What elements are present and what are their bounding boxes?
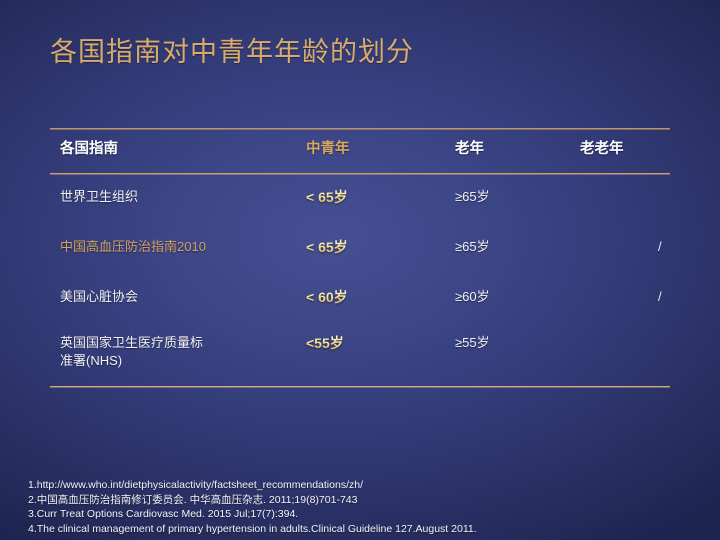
footnote-item: 3.Curr Treat Options Cardiovasc Med. 201… <box>28 507 698 522</box>
cell-elderly: ≥60岁 <box>455 288 575 306</box>
cell-very-elderly: / <box>580 238 670 256</box>
cell-very-elderly: / <box>580 288 670 306</box>
table-row: 英国国家卫生医疗质量标 准署(NHS) <55岁 ≥55岁 <box>50 324 670 386</box>
cell-middle-young: <55岁 <box>306 334 456 353</box>
cell-guideline: 中国高血压防治指南2010 <box>60 238 310 256</box>
table-bottom-rule <box>50 386 670 387</box>
guidelines-table: 各国指南 中青年 老年 老老年 世界卫生组织 < 65岁 ≥65岁 中国高血压防… <box>50 128 670 387</box>
column-header-elderly: 老年 <box>455 140 575 160</box>
cell-elderly: ≥55岁 <box>455 334 575 352</box>
footnote-item: 4.The clinical management of primary hyp… <box>28 522 698 537</box>
cell-middle-young: < 60岁 <box>306 288 456 307</box>
cell-guideline: 世界卫生组织 <box>60 188 310 206</box>
footnote-item: 1.http://www.who.int/dietphysicalactivit… <box>28 478 698 493</box>
cell-middle-young: < 65岁 <box>306 188 456 207</box>
cell-guideline: 英国国家卫生医疗质量标 准署(NHS) <box>60 334 310 369</box>
table-row: 世界卫生组织 < 65岁 ≥65岁 <box>50 174 670 224</box>
slide-canvas: 各国指南对中青年年龄的划分 各国指南 中青年 老年 老老年 世界卫生组织 < 6… <box>0 0 720 540</box>
column-header-very-elderly: 老老年 <box>580 140 670 160</box>
table-header-row: 各国指南 中青年 老年 老老年 <box>50 129 670 173</box>
cell-elderly: ≥65岁 <box>455 188 575 206</box>
table-row: 中国高血压防治指南2010 < 65岁 ≥65岁 / <box>50 224 670 274</box>
column-header-middle-young: 中青年 <box>306 140 456 160</box>
cell-elderly: ≥65岁 <box>455 238 575 256</box>
table-row: 美国心脏协会 < 60岁 ≥60岁 / <box>50 274 670 324</box>
footnote-list: 1.http://www.who.int/dietphysicalactivit… <box>28 478 698 536</box>
cell-middle-young: < 65岁 <box>306 238 456 257</box>
cell-guideline: 美国心脏协会 <box>60 288 310 306</box>
column-header-guideline: 各国指南 <box>60 140 310 160</box>
footnote-item: 2.中国高血压防治指南修订委员会. 中华高血压杂志. 2011;19(8)701… <box>28 493 698 508</box>
page-title: 各国指南对中青年年龄的划分 <box>50 30 414 69</box>
